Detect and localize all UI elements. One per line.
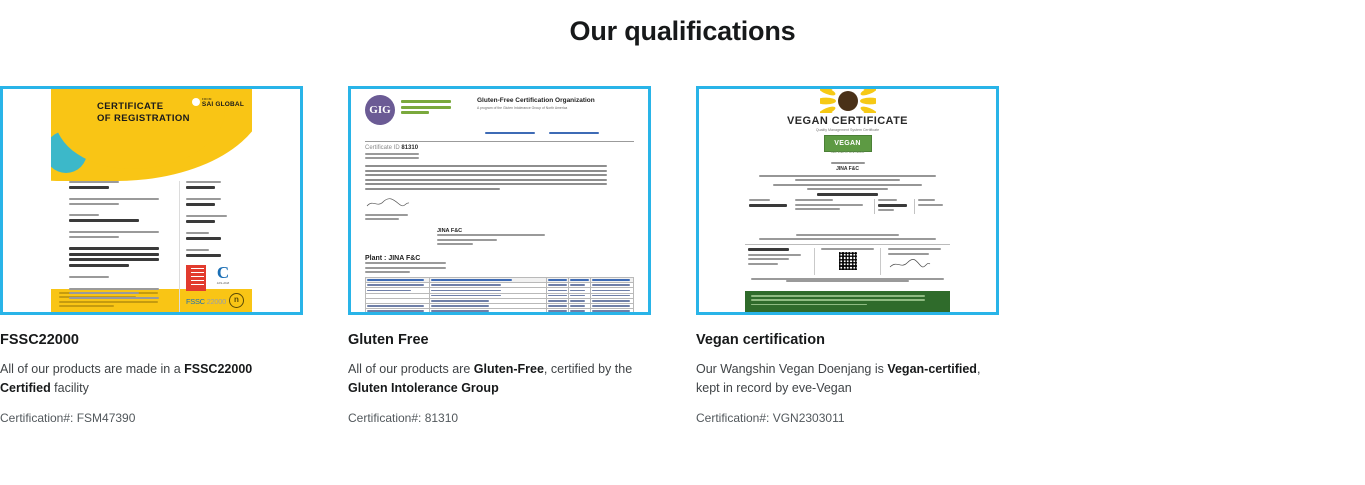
certificate-body-right-column: C JAS-ANZ FSSC 22000 — [179, 181, 244, 312]
text-line — [365, 267, 446, 269]
spacer — [69, 191, 169, 198]
qualification-card-gluten-free: GIG Gluten-Free Certification Organizati… — [348, 86, 651, 425]
certificate-id-row: Certificate ID 81310 — [365, 145, 634, 151]
certificate-id-value: 81310 — [401, 145, 418, 151]
table-row — [366, 309, 634, 312]
spacer — [69, 281, 169, 288]
text-line — [186, 181, 221, 183]
sunflower-icon — [820, 89, 876, 113]
text-line — [401, 106, 451, 109]
card-title-vegan: Vegan certification — [696, 332, 999, 348]
text-line — [807, 188, 887, 190]
certificate-body: C JAS-ANZ FSSC 22000 — [69, 181, 244, 312]
qr-code-icon — [839, 252, 857, 270]
text-line — [795, 199, 833, 201]
text-line — [69, 288, 159, 290]
text-line — [759, 238, 935, 240]
text-line — [918, 204, 943, 206]
gig-links[interactable] — [485, 132, 634, 137]
certificate-heading-line1: CERTIFICATE — [97, 101, 190, 113]
certificate-accreditation-logos: C JAS-ANZ — [186, 265, 244, 291]
text-line — [749, 204, 787, 207]
card-certification-number-gluten-free: Certification#: 81310 — [348, 411, 651, 425]
spacer — [186, 208, 244, 215]
text-line — [69, 292, 139, 294]
certificate-id-label: Certificate ID — [365, 145, 400, 151]
text-line — [69, 186, 109, 189]
text-line — [365, 183, 607, 185]
text-line — [365, 188, 500, 190]
certificate-thumbnail-fssc22000[interactable]: CERTIFICATE OF REGISTRATION FROM SAI GLO… — [0, 86, 303, 315]
page-title: Our qualifications — [0, 0, 1365, 47]
sai-global-dot-icon — [192, 98, 200, 106]
text-line — [878, 204, 907, 207]
plant-address — [365, 262, 455, 273]
signature-icon — [888, 258, 932, 270]
certificate-thumbnail-vegan[interactable]: VEGAN CERTIFICATE Quality Management Sys… — [696, 86, 999, 315]
text-line — [186, 215, 227, 217]
vegan-product-table — [749, 199, 946, 214]
text-line — [69, 203, 119, 205]
text-line — [795, 208, 840, 210]
vegan-table-col-site — [749, 199, 791, 214]
divider — [745, 244, 950, 245]
text-line — [69, 198, 159, 200]
text-line — [751, 299, 925, 301]
qualification-card-vegan: VEGAN CERTIFICATE Quality Management Sys… — [696, 86, 999, 425]
card-certification-number-vegan: Certification#: VGN2303011 — [696, 411, 999, 425]
card-description-vegan: Our Wangshin Vegan Doenjang is Vegan-cer… — [696, 360, 999, 398]
certificate-heading: CERTIFICATE OF REGISTRATION — [97, 101, 190, 125]
vegan-certificate-footer-block — [745, 234, 950, 282]
text-line — [365, 218, 399, 220]
text-line — [186, 220, 215, 223]
spacer — [186, 225, 244, 232]
spacer — [69, 240, 169, 247]
signature-block — [365, 196, 413, 221]
card-title-fssc22000: FSSC22000 — [0, 332, 303, 348]
text-line — [69, 236, 119, 238]
text-line — [748, 254, 801, 256]
certificate-heading-line2: OF REGISTRATION — [97, 113, 190, 125]
spacer — [186, 191, 244, 198]
fssc-logo-number: 22000 — [207, 297, 226, 306]
text-line — [437, 234, 545, 236]
jas-anz-mark: C — [210, 265, 236, 281]
text-line — [748, 263, 778, 265]
text-line — [69, 181, 119, 183]
card-description-gluten-free: All of our products are Gluten-Free, cer… — [348, 360, 651, 398]
text-line — [365, 214, 408, 216]
card-certification-number-fssc22000: Certification#: FSM47390 — [0, 411, 303, 425]
sai-global-logo: FROM SAI GLOBAL — [192, 96, 244, 108]
gig-logo-icon: GIG — [365, 95, 395, 125]
vegan-footer-bar — [745, 291, 950, 312]
certificate-document-gig: GIG Gluten-Free Certification Organizati… — [357, 89, 642, 312]
text-line — [365, 157, 419, 159]
card-desc-post: facility — [51, 381, 89, 395]
card-desc-strong2: Gluten Intolerance Group — [348, 381, 499, 395]
vegan-table-col-products — [795, 199, 870, 214]
text-line — [786, 280, 909, 282]
vegan-certificate-heading: VEGAN CERTIFICATE — [729, 115, 966, 127]
text-line — [69, 297, 159, 299]
text-line — [831, 162, 865, 164]
vegan-table-col-date — [914, 199, 946, 214]
text-line — [186, 249, 209, 251]
vegan-footer-issuer — [745, 248, 810, 275]
text-line — [69, 253, 159, 256]
text-line — [69, 231, 159, 233]
text-line — [795, 204, 863, 206]
vegan-footer-qr — [814, 248, 881, 275]
text-line — [401, 111, 429, 114]
vegan-footer-columns — [745, 248, 950, 275]
text-line — [365, 262, 446, 264]
spacer — [69, 207, 169, 214]
text-line — [365, 153, 419, 155]
vegan-certificate-body: JINA F&C — [747, 159, 948, 198]
text-line — [748, 248, 789, 251]
card-desc-strong: Gluten-Free — [474, 362, 544, 376]
spacer — [69, 269, 169, 276]
card-desc-pre: All of our products are — [348, 362, 474, 376]
text-line — [69, 258, 159, 261]
certificate-thumbnail-gluten-free[interactable]: GIG Gluten-Free Certification Organizati… — [348, 86, 651, 315]
text-line — [365, 271, 410, 273]
text-line — [69, 247, 159, 250]
gig-header: GIG Gluten-Free Certification Organizati… — [365, 95, 634, 125]
certificate-body-left-column — [69, 181, 169, 312]
certificate-paragraph — [365, 165, 634, 190]
text-line — [69, 276, 109, 278]
certificate-document-vegan: VEGAN CERTIFICATE Quality Management Sys… — [729, 89, 966, 312]
card-desc-pre: Our Wangshin Vegan Doenjang is — [696, 362, 887, 376]
text-line — [748, 258, 789, 260]
vegan-table-col-scope — [874, 199, 910, 214]
qualification-card-fssc22000: CERTIFICATE OF REGISTRATION FROM SAI GLO… — [0, 86, 303, 425]
text-line — [795, 179, 900, 181]
text-line — [749, 199, 770, 201]
certificate-dates — [365, 153, 425, 160]
sai-global-brand: SAI GLOBAL — [202, 101, 244, 108]
company-address-block: JINA F&C — [437, 228, 557, 245]
website-link[interactable] — [485, 132, 535, 134]
vegan-company-name: JINA F&C — [747, 166, 948, 172]
text-line — [751, 295, 925, 297]
signature-icon — [365, 198, 411, 209]
gig-org-title: Gluten-Free Certification Organization — [477, 97, 634, 104]
text-line — [878, 199, 897, 201]
vegan-certificate-subheading: Quality Management System Certificate — [729, 128, 966, 132]
vegan-badge-icon: VEGAN — [824, 135, 872, 152]
text-line — [186, 203, 215, 206]
jas-anz-logo: C JAS-ANZ — [210, 265, 236, 285]
card-desc-strong: Vegan-certified — [887, 362, 977, 376]
text-line — [69, 219, 139, 222]
vegan-badge-caption: CERTIFIED BY EVE VEGAN — [729, 151, 966, 154]
text-line — [365, 170, 607, 172]
spacer — [186, 242, 244, 249]
text-line — [186, 232, 209, 234]
korea-accreditation-logo — [186, 265, 206, 291]
text-line — [69, 264, 129, 267]
text-line — [888, 248, 941, 250]
text-line — [401, 100, 451, 103]
text-line — [817, 193, 877, 196]
text-line — [751, 304, 867, 306]
sai-global-wordmark: FROM SAI GLOBAL — [202, 96, 244, 108]
text-line — [186, 254, 221, 257]
card-title-gluten-free: Gluten Free — [348, 332, 651, 348]
plant-heading: Plant : JINA F&C — [365, 255, 634, 262]
text-line — [796, 234, 899, 236]
text-line — [437, 243, 473, 245]
text-line — [186, 198, 221, 200]
text-line — [821, 248, 874, 250]
text-line — [437, 239, 497, 241]
text-line — [69, 214, 99, 216]
text-line — [759, 175, 936, 177]
text-line — [365, 174, 607, 176]
jas-anz-label: JAS-ANZ — [210, 281, 236, 285]
card-desc-mid: , certified by the — [544, 362, 632, 376]
email-link[interactable] — [549, 132, 599, 134]
fssc-logo-mark: FSSC — [186, 297, 205, 306]
gig-org-subtitle: A program of the Gluten Intolerance Grou… — [477, 106, 634, 110]
card-description-fssc22000: All of our products are made in a FSSC22… — [0, 360, 303, 398]
text-line — [365, 165, 607, 167]
text-line — [365, 179, 607, 181]
text-line — [878, 209, 894, 211]
text-line — [186, 237, 221, 240]
card-desc-pre: All of our products are made in a — [0, 362, 184, 376]
text-line — [918, 199, 935, 201]
product-table — [365, 277, 634, 312]
text-line — [186, 186, 215, 189]
vegan-footer-signature — [885, 248, 950, 275]
gig-org-heading: Gluten-Free Certification Organization A… — [477, 95, 634, 110]
text-line — [773, 184, 922, 186]
divider — [365, 141, 634, 142]
text-line — [888, 253, 929, 255]
qualification-cards: CERTIFICATE OF REGISTRATION FROM SAI GLO… — [0, 86, 1365, 425]
gig-wordmark — [401, 95, 457, 117]
spacer — [69, 224, 169, 231]
fssc-22000-logo: FSSC 22000 — [186, 297, 244, 306]
certificate-document-sai-global: CERTIFICATE OF REGISTRATION FROM SAI GLO… — [51, 89, 252, 312]
